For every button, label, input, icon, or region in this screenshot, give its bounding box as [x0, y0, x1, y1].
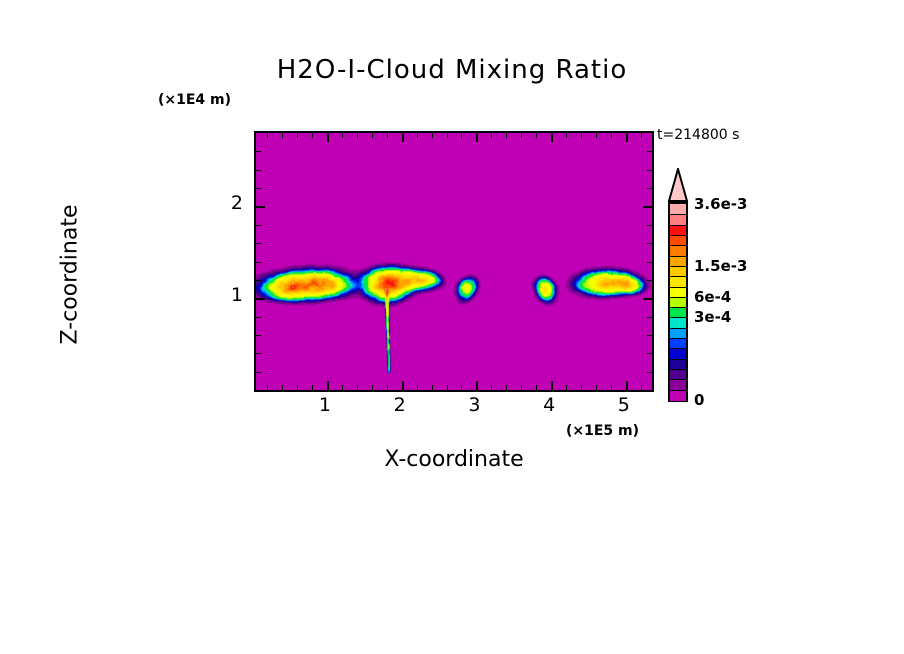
axis-tick — [647, 353, 652, 354]
axis-tick — [506, 385, 507, 390]
colorbar-band — [670, 214, 686, 225]
colorbar-separator — [670, 276, 686, 277]
axis-tick — [461, 133, 462, 138]
colorbar-band — [670, 369, 686, 380]
colorbar-tick-label: 1.5e-3 — [694, 257, 747, 275]
colorbar-separator — [670, 266, 686, 267]
colorbar-band — [670, 379, 686, 390]
axis-tick — [596, 385, 597, 390]
axis-tick — [647, 225, 652, 226]
colorbar-separator — [670, 369, 686, 370]
axis-tick — [256, 188, 261, 189]
axis-tick — [491, 133, 492, 138]
timestamp-annotation: t=214800 s — [657, 127, 739, 143]
colorbar-separator — [670, 297, 686, 298]
axis-tick — [491, 385, 492, 390]
colorbar-separator — [670, 307, 686, 308]
axis-tick — [342, 133, 343, 138]
colorbar-band — [670, 276, 686, 287]
colorbar-separator — [670, 328, 686, 329]
axis-tick — [256, 317, 261, 318]
axis-tick — [432, 385, 433, 390]
axis-tick — [647, 170, 652, 171]
y-tick-label: 1 — [203, 284, 243, 306]
colorbar-band — [670, 297, 686, 308]
axis-tick — [566, 385, 567, 390]
axis-tick — [581, 385, 582, 390]
colorbar-tick-label: 3e-4 — [694, 308, 731, 326]
axis-tick — [647, 372, 652, 373]
colorbar-separator — [670, 379, 686, 380]
axis-tick — [282, 385, 283, 390]
colorbar-band — [670, 266, 686, 277]
colorbar-band — [670, 245, 686, 256]
colorbar-band — [670, 235, 686, 246]
axis-tick — [387, 133, 388, 138]
colorbar-tick-label: 0 — [694, 391, 704, 409]
x-axis-label: X-coordinate — [254, 447, 654, 472]
axis-tick — [643, 206, 652, 208]
axis-tick — [357, 385, 358, 390]
colorbar-band — [670, 256, 686, 267]
axis-tick — [581, 133, 582, 138]
axis-tick — [312, 385, 313, 390]
colorbar-separator — [670, 256, 686, 257]
axis-tick — [297, 385, 298, 390]
colorbar-band — [670, 348, 686, 359]
x-tick-label: 5 — [604, 394, 644, 416]
axis-tick — [521, 133, 522, 138]
colorbar-separator — [670, 235, 686, 236]
axis-tick — [596, 133, 597, 138]
y-tick-label: 2 — [203, 192, 243, 214]
colorbar-band — [670, 204, 686, 215]
colorbar-band — [670, 317, 686, 328]
colorbar-separator — [670, 287, 686, 288]
axis-tick — [476, 133, 478, 142]
axis-tick — [647, 262, 652, 263]
colorbar-tick-label: 3.6e-3 — [694, 195, 747, 213]
axis-tick — [372, 133, 373, 138]
axis-tick — [626, 133, 628, 142]
axis-tick — [342, 385, 343, 390]
axis-tick — [447, 133, 448, 138]
axis-tick — [551, 133, 553, 142]
axis-tick — [641, 133, 642, 138]
colorbar-band — [670, 225, 686, 236]
axis-tick — [256, 280, 261, 281]
axis-tick — [297, 133, 298, 138]
colorbar-band — [670, 328, 686, 339]
axis-tick — [626, 381, 628, 390]
axis-tick — [551, 381, 553, 390]
colorbar-band — [670, 287, 686, 298]
colorbar-separator — [670, 225, 686, 226]
axis-tick — [256, 298, 265, 300]
axis-tick — [447, 385, 448, 390]
axis-tick — [327, 133, 329, 142]
page-title: H2O-I-Cloud Mixing Ratio — [0, 55, 904, 85]
axis-tick — [256, 206, 265, 208]
colorbar-separator — [670, 348, 686, 349]
axis-tick — [647, 280, 652, 281]
axis-tick — [256, 353, 261, 354]
axis-tick — [256, 335, 261, 336]
colorbar-separator — [670, 359, 686, 360]
y-axis-label: Z-coordinate — [58, 145, 83, 405]
axis-tick — [256, 372, 261, 373]
plot-root: H2O-I-Cloud Mixing Ratio (×1E4 m) t=2148… — [0, 0, 904, 654]
axis-tick — [256, 243, 261, 244]
axis-tick — [312, 133, 313, 138]
colorbar-band — [670, 359, 686, 370]
axis-tick — [506, 133, 507, 138]
colorbar-bands — [668, 202, 688, 402]
axis-tick — [327, 381, 329, 390]
axis-tick — [282, 133, 283, 138]
axis-tick — [476, 381, 478, 390]
colorbar — [668, 168, 688, 402]
colorbar-over-arrow — [668, 168, 688, 202]
colorbar-band — [670, 307, 686, 318]
axis-tick — [417, 133, 418, 138]
colorbar-tick-label: 6e-4 — [694, 288, 731, 306]
axis-tick — [372, 385, 373, 390]
axis-tick — [611, 133, 612, 138]
axis-tick — [611, 385, 612, 390]
heatmap-canvas — [256, 133, 652, 390]
axis-tick — [647, 243, 652, 244]
axis-tick — [357, 133, 358, 138]
axis-tick — [643, 298, 652, 300]
axis-tick — [256, 151, 261, 152]
axis-tick — [267, 133, 268, 138]
colorbar-separator — [670, 317, 686, 318]
colorbar-separator — [670, 245, 686, 246]
colorbar-separator — [670, 214, 686, 215]
axis-tick — [461, 385, 462, 390]
axis-tick — [256, 170, 261, 171]
colorbar-separator — [670, 338, 686, 339]
axis-tick — [417, 385, 418, 390]
axis-tick — [647, 188, 652, 189]
axis-tick — [402, 381, 404, 390]
axis-tick — [267, 385, 268, 390]
x-tick-label: 2 — [380, 394, 420, 416]
axis-tick — [536, 385, 537, 390]
axis-tick — [641, 385, 642, 390]
y-axis-units-label: (×1E4 m) — [158, 92, 231, 108]
axis-tick — [521, 385, 522, 390]
axis-tick — [536, 133, 537, 138]
colorbar-band — [670, 338, 686, 349]
x-tick-label: 4 — [529, 394, 569, 416]
axis-tick — [387, 385, 388, 390]
axis-tick — [402, 133, 404, 142]
x-tick-label: 3 — [454, 394, 494, 416]
x-axis-units-label: (×1E5 m) — [566, 423, 639, 439]
colorbar-separator — [670, 390, 686, 391]
colorbar-band — [670, 390, 686, 401]
axis-tick — [256, 225, 261, 226]
heatmap-plot-area — [254, 131, 654, 392]
axis-tick — [256, 262, 261, 263]
axis-tick — [432, 133, 433, 138]
axis-tick — [647, 151, 652, 152]
axis-tick — [566, 133, 567, 138]
axis-tick — [647, 317, 652, 318]
axis-tick — [647, 335, 652, 336]
x-tick-label: 1 — [305, 394, 345, 416]
